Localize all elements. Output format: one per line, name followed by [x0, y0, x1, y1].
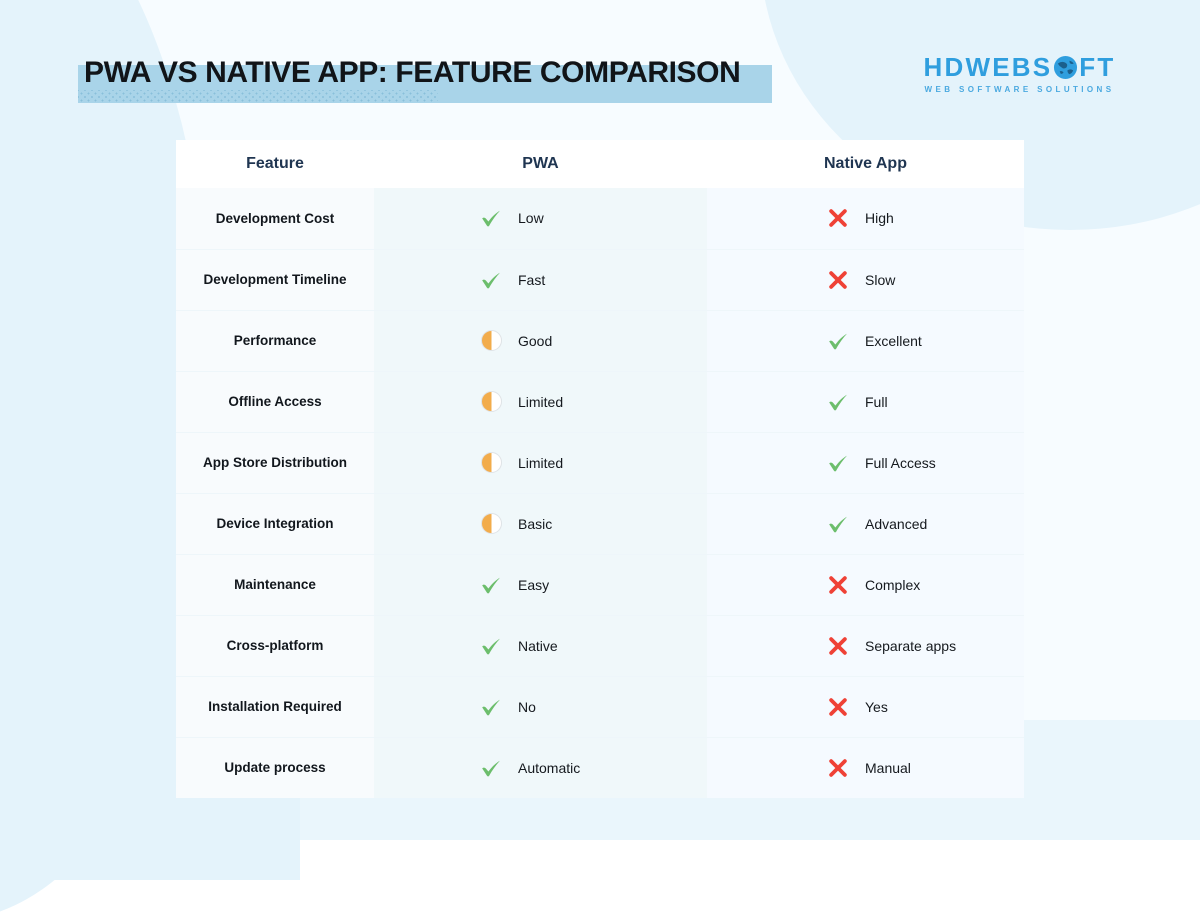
- cell-content: Excellent: [707, 328, 1024, 354]
- cell-content: Full Access: [707, 450, 1024, 476]
- native-value-cell: Yes: [707, 676, 1024, 737]
- half-circle-shape: [481, 452, 502, 473]
- half-circle-icon: [478, 450, 504, 476]
- check-icon: [825, 389, 851, 415]
- cross-icon: [825, 633, 851, 659]
- native-value-cell: Excellent: [707, 310, 1024, 371]
- native-value-cell: High: [707, 188, 1024, 249]
- native-value-cell: Complex: [707, 554, 1024, 615]
- table-row: Development TimelineFastSlow: [176, 249, 1024, 310]
- feature-name-cell: Maintenance: [176, 554, 374, 615]
- cell-content: Manual: [707, 755, 1024, 781]
- feature-name-cell: App Store Distribution: [176, 432, 374, 493]
- pwa-value-text: Fast: [518, 272, 545, 288]
- table-header: Feature PWA Native App: [176, 140, 1024, 188]
- logo-tagline: WEB SOFTWARE SOLUTIONS: [917, 85, 1122, 94]
- pwa-value-cell: Automatic: [374, 737, 707, 798]
- pwa-value-cell: Good: [374, 310, 707, 371]
- pwa-value-cell: Easy: [374, 554, 707, 615]
- table-row: App Store DistributionLimitedFull Access: [176, 432, 1024, 493]
- check-icon: [825, 450, 851, 476]
- feature-name-cell: Offline Access: [176, 371, 374, 432]
- pwa-value-cell: Limited: [374, 371, 707, 432]
- native-value-text: Yes: [865, 699, 888, 715]
- feature-name-cell: Update process: [176, 737, 374, 798]
- feature-name-cell: Installation Required: [176, 676, 374, 737]
- feature-name-cell: Cross-platform: [176, 615, 374, 676]
- cross-icon: [825, 572, 851, 598]
- native-value-text: High: [865, 210, 894, 226]
- check-icon: [478, 267, 504, 293]
- check-icon: [825, 328, 851, 354]
- cross-icon: [825, 694, 851, 720]
- table-header-row: Feature PWA Native App: [176, 140, 1024, 188]
- column-header-feature: Feature: [176, 140, 374, 188]
- cell-content: Full: [707, 389, 1024, 415]
- pwa-value-cell: No: [374, 676, 707, 737]
- pwa-value-text: Low: [518, 210, 544, 226]
- comparison-table-card: Feature PWA Native App Development CostL…: [176, 140, 1024, 798]
- table-row: Installation RequiredNoYes: [176, 676, 1024, 737]
- pwa-value-cell: Limited: [374, 432, 707, 493]
- cell-content: High: [707, 205, 1024, 231]
- header: PWA VS NATIVE APP: FEATURE COMPARISON HD…: [0, 0, 1200, 130]
- native-value-text: Full: [865, 394, 888, 410]
- cell-content: Basic: [374, 511, 707, 537]
- native-value-text: Manual: [865, 760, 911, 776]
- logo-word-part1: HDWEBS: [924, 52, 1053, 82]
- table-row: Offline AccessLimitedFull: [176, 371, 1024, 432]
- hdwebsoft-logo[interactable]: HDWEBS FT WEB SOFTWARE SOLUTIONS: [917, 52, 1122, 94]
- half-circle-shape: [481, 391, 502, 412]
- pwa-value-cell: Native: [374, 615, 707, 676]
- page-title: PWA VS NATIVE APP: FEATURE COMPARISON: [78, 52, 746, 94]
- cell-content: Advanced: [707, 511, 1024, 537]
- cell-content: Low: [374, 205, 707, 231]
- pwa-value-text: No: [518, 699, 536, 715]
- native-value-cell: Full: [707, 371, 1024, 432]
- native-value-cell: Separate apps: [707, 615, 1024, 676]
- cross-icon: [825, 755, 851, 781]
- native-value-text: Separate apps: [865, 638, 956, 654]
- pwa-value-text: Basic: [518, 516, 552, 532]
- pwa-value-text: Native: [518, 638, 558, 654]
- pwa-value-text: Automatic: [518, 760, 580, 776]
- cell-content: Limited: [374, 389, 707, 415]
- half-circle-icon: [478, 389, 504, 415]
- cell-content: Native: [374, 633, 707, 659]
- native-value-cell: Full Access: [707, 432, 1024, 493]
- table-row: Development CostLowHigh: [176, 188, 1024, 249]
- native-value-cell: Advanced: [707, 493, 1024, 554]
- cell-content: Separate apps: [707, 633, 1024, 659]
- pwa-value-cell: Low: [374, 188, 707, 249]
- half-circle-icon: [478, 511, 504, 537]
- cell-content: Slow: [707, 267, 1024, 293]
- check-icon: [478, 755, 504, 781]
- feature-name-cell: Device Integration: [176, 493, 374, 554]
- logo-word-part2: FT: [1079, 52, 1115, 82]
- pwa-value-text: Good: [518, 333, 552, 349]
- half-circle-icon: [478, 328, 504, 354]
- native-value-cell: Slow: [707, 249, 1024, 310]
- feature-name-cell: Development Cost: [176, 188, 374, 249]
- table-body: Development CostLowHighDevelopment Timel…: [176, 188, 1024, 798]
- cell-content: No: [374, 694, 707, 720]
- column-header-pwa: PWA: [374, 140, 707, 188]
- check-icon: [825, 511, 851, 537]
- pwa-value-cell: Basic: [374, 493, 707, 554]
- globe-icon: [1053, 55, 1078, 80]
- check-icon: [478, 205, 504, 231]
- cell-content: Yes: [707, 694, 1024, 720]
- check-icon: [478, 694, 504, 720]
- native-value-text: Excellent: [865, 333, 922, 349]
- feature-name-cell: Performance: [176, 310, 374, 371]
- cross-icon: [825, 267, 851, 293]
- half-circle-shape: [481, 513, 502, 534]
- table-row: Device IntegrationBasicAdvanced: [176, 493, 1024, 554]
- logo-wordmark: HDWEBS FT: [917, 52, 1122, 82]
- table-row: Cross-platformNativeSeparate apps: [176, 615, 1024, 676]
- page-title-container: PWA VS NATIVE APP: FEATURE COMPARISON: [78, 52, 746, 94]
- feature-name-cell: Development Timeline: [176, 249, 374, 310]
- pwa-value-text: Limited: [518, 394, 563, 410]
- cell-content: Easy: [374, 572, 707, 598]
- check-icon: [478, 633, 504, 659]
- native-value-text: Full Access: [865, 455, 936, 471]
- cell-content: Limited: [374, 450, 707, 476]
- column-header-native-app: Native App: [707, 140, 1024, 188]
- native-value-text: Complex: [865, 577, 920, 593]
- native-value-text: Slow: [865, 272, 895, 288]
- native-value-text: Advanced: [865, 516, 927, 532]
- cell-content: Complex: [707, 572, 1024, 598]
- table-row: PerformanceGoodExcellent: [176, 310, 1024, 371]
- pwa-value-text: Limited: [518, 455, 563, 471]
- cell-content: Fast: [374, 267, 707, 293]
- table-row: Update processAutomaticManual: [176, 737, 1024, 798]
- native-value-cell: Manual: [707, 737, 1024, 798]
- cell-content: Automatic: [374, 755, 707, 781]
- check-icon: [478, 572, 504, 598]
- pwa-value-cell: Fast: [374, 249, 707, 310]
- comparison-table: Feature PWA Native App Development CostL…: [176, 140, 1024, 798]
- cross-icon: [825, 205, 851, 231]
- half-circle-shape: [481, 330, 502, 351]
- cell-content: Good: [374, 328, 707, 354]
- pwa-value-text: Easy: [518, 577, 549, 593]
- table-row: MaintenanceEasyComplex: [176, 554, 1024, 615]
